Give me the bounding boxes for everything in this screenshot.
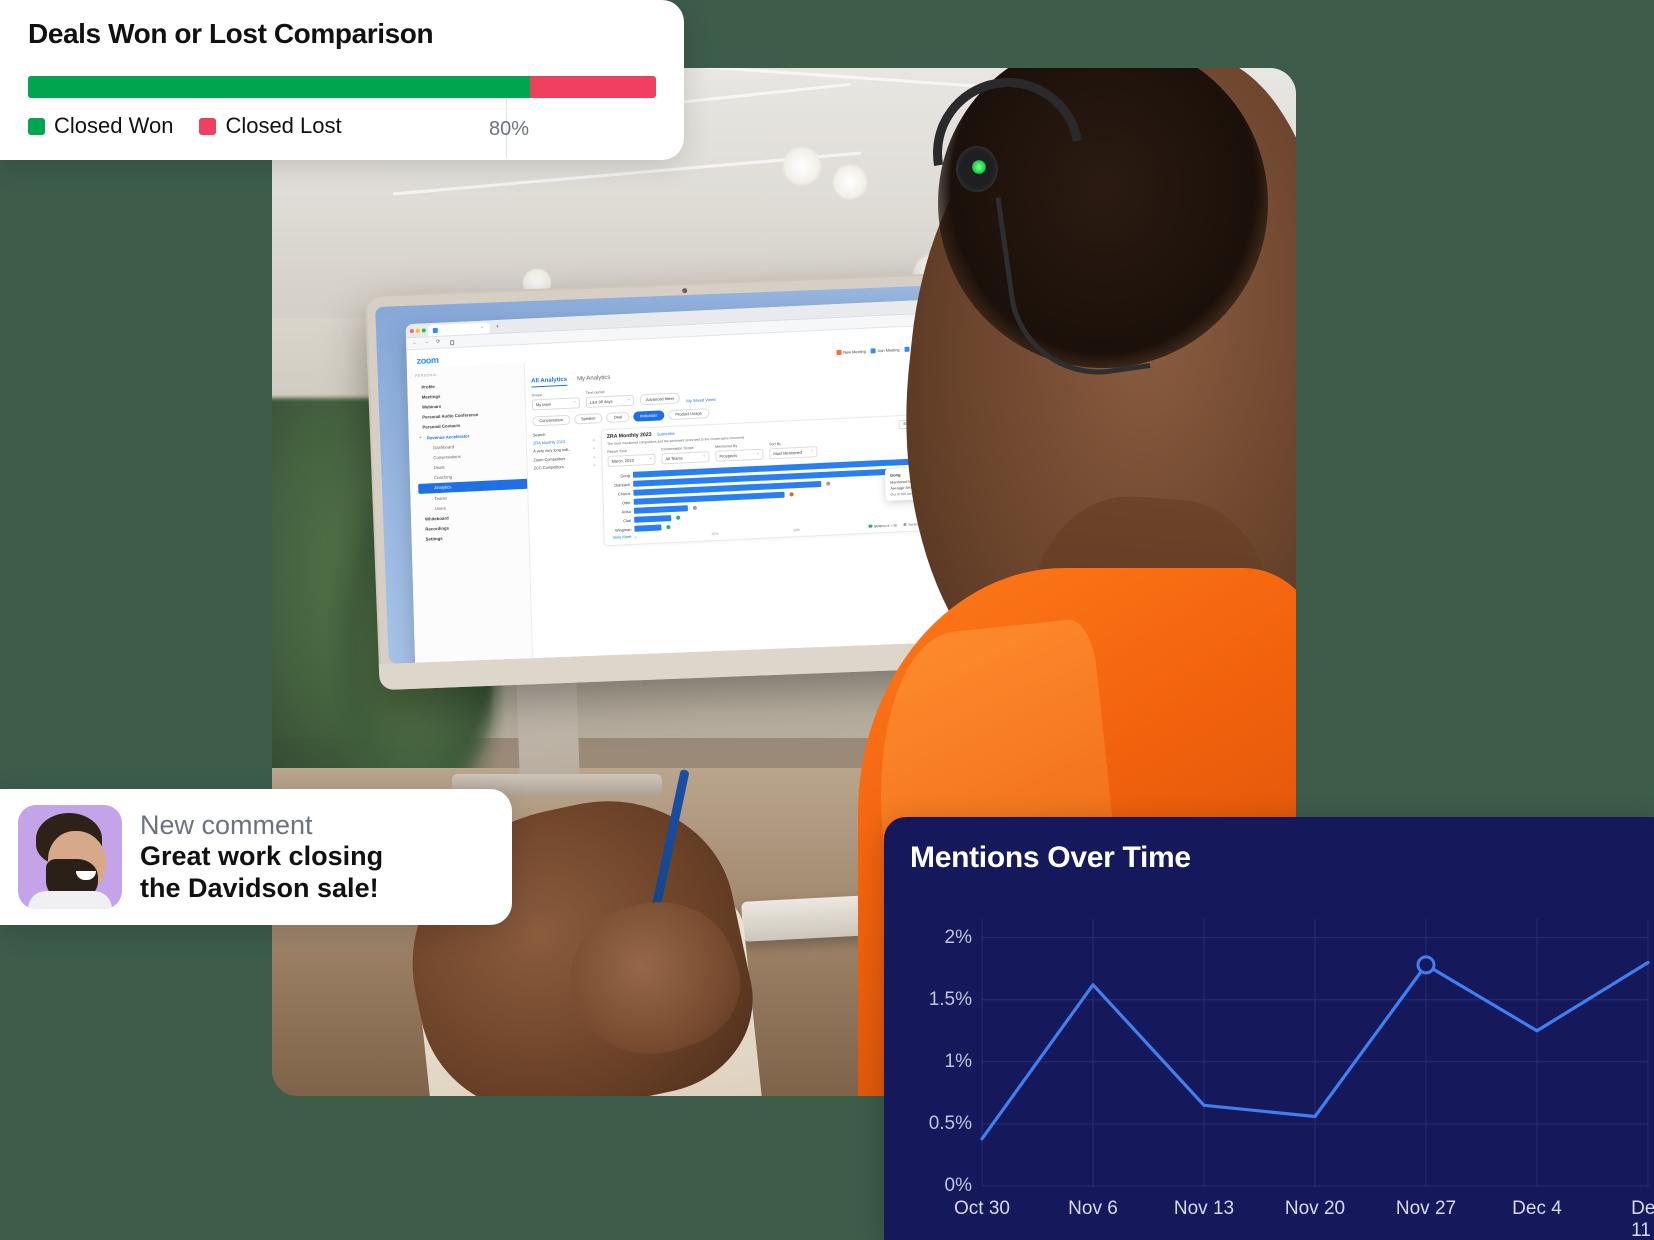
mentioned-by-control: Mentioned By Prospects xyxy=(715,443,763,462)
saved-views-link[interactable]: My Saved Views xyxy=(686,396,716,402)
sentiment-dot-negative xyxy=(789,492,793,496)
chip-label: ZCC Competitors xyxy=(534,464,564,470)
y-tick: 1.5% xyxy=(910,989,972,1011)
bar-label: Otter xyxy=(609,500,631,506)
screenshot-root: × + ← → ⟳ zoom PERSONAL Profil xyxy=(0,0,1654,1240)
pill-deal[interactable]: Deal xyxy=(607,411,630,423)
y-tick: 2% xyxy=(910,927,972,949)
ceiling-lamp xyxy=(782,146,822,186)
sentiment-dot-neutral xyxy=(692,506,696,510)
zoom-favicon xyxy=(433,328,438,333)
x-tick: Dec 4 xyxy=(1512,1198,1562,1220)
report-title: ZRA Monthly 2023 xyxy=(607,432,652,440)
new-comment-card[interactable]: New comment Great work closing the David… xyxy=(0,789,512,925)
x-tick: 0 xyxy=(635,535,637,539)
pill-indicators[interactable]: Indicators xyxy=(633,410,665,422)
search-chip-zcc-competitors[interactable]: ZCC Competitors × xyxy=(534,463,596,471)
mentions-over-time-card: Mentions Over Time 0%0.5%1%1.5%2%Oct 30N… xyxy=(884,817,1654,1240)
monitor-stand xyxy=(516,667,580,789)
comment-message-line2: the Davidson sale! xyxy=(140,873,383,904)
deals-legend: Closed Won Closed Lost xyxy=(28,113,656,139)
legend-swatch-won xyxy=(28,118,45,135)
subscribe-link[interactable]: Subscribe xyxy=(657,431,675,437)
x-tick: 20% xyxy=(793,528,800,532)
pill-speaker[interactable]: Speaker xyxy=(574,413,603,425)
scope-select[interactable]: My team xyxy=(532,397,580,410)
search-chip-zra-monthly[interactable]: ZRA Monthly 2023 × xyxy=(533,438,595,446)
search-chip-zoom-competitors[interactable]: Zoom Competitors × xyxy=(533,454,595,462)
legend-label-won: Closed Won xyxy=(54,113,173,139)
y-tick: 1% xyxy=(910,1051,972,1073)
scope-filter: Scope My team xyxy=(532,391,580,410)
bar-label: Outreach xyxy=(608,482,630,488)
sort-by-select[interactable]: Most Mentioned xyxy=(769,446,817,459)
close-tab-icon[interactable]: × xyxy=(481,325,483,330)
legend-item-closed-won: Closed Won xyxy=(28,113,173,139)
x-tick: 10% xyxy=(711,531,718,535)
bar-fill xyxy=(634,525,661,532)
bar-label: Aviso xyxy=(609,509,631,515)
bar-label: Gong xyxy=(608,473,630,479)
window-maximize-icon[interactable] xyxy=(422,328,426,332)
page-title: Deals Won or Lost Comparison xyxy=(28,18,656,50)
search-panel: Search ZRA Monthly 2023 × A very very lo… xyxy=(533,430,598,549)
bar-label: Clari xyxy=(609,518,631,524)
x-tick: Nov 27 xyxy=(1396,1198,1456,1220)
chip-label: A very very long indi... xyxy=(533,447,571,454)
chip-label: Zoom Competitors xyxy=(533,456,565,463)
close-icon[interactable]: × xyxy=(593,446,595,451)
x-tick: Nov 20 xyxy=(1285,1198,1345,1220)
close-icon[interactable]: × xyxy=(593,463,595,468)
conversation-scope-control: Conversation Scope All Teams xyxy=(661,445,709,464)
window-close-icon[interactable] xyxy=(410,329,414,333)
back-arrow-icon[interactable]: ← xyxy=(412,340,417,346)
x-tick: Oct 30 xyxy=(954,1198,1010,1220)
view-more-link[interactable]: View More xyxy=(613,534,632,540)
y-tick: 0% xyxy=(910,1175,972,1197)
sentiment-dot-positive xyxy=(676,515,680,519)
bar-fill xyxy=(634,505,688,513)
avatar-shoulders xyxy=(28,891,112,909)
comment-message-line1: Great work closing xyxy=(140,841,383,872)
avatar xyxy=(18,805,122,909)
bar-label: Wingman xyxy=(609,527,631,533)
zoom-logo: zoom xyxy=(417,355,439,366)
report-time-select[interactable]: March, 2023 xyxy=(607,453,655,466)
lock-icon xyxy=(450,340,454,345)
bar-fill xyxy=(634,515,671,522)
mentions-line-chart: 0%0.5%1%1.5%2%Oct 30Nov 6Nov 13Nov 20Nov… xyxy=(910,901,1654,1240)
sort-by-control: Sort By Most Mentioned xyxy=(769,440,817,459)
legend-swatch-lost xyxy=(199,118,216,135)
new-tab-icon[interactable]: + xyxy=(496,323,500,331)
tab-my-analytics[interactable]: My Analytics xyxy=(577,375,611,386)
x-tick: Nov 6 xyxy=(1068,1198,1118,1220)
report-time-control: Report Time March, 2023 xyxy=(607,448,655,467)
legend-label-lost: Closed Lost xyxy=(225,113,341,139)
x-tick: Nov 13 xyxy=(1174,1198,1234,1220)
time-period-filter: Time period Last 90 days xyxy=(586,389,634,408)
bar-label: Chorus xyxy=(608,491,630,497)
search-chip-long-indicator[interactable]: A very very long indi... × xyxy=(533,446,595,454)
tab-all-analytics[interactable]: All Analytics xyxy=(531,377,567,388)
pill-product-usage[interactable]: Product Usage xyxy=(668,408,709,420)
forward-arrow-icon[interactable]: → xyxy=(424,339,429,345)
pill-conversation[interactable]: Conversation xyxy=(532,414,570,426)
headset-led-icon xyxy=(972,160,986,174)
closed-won-segment xyxy=(28,76,530,98)
window-minimize-icon[interactable] xyxy=(416,329,420,333)
mentioned-by-select[interactable]: Prospects xyxy=(715,448,763,461)
chart-title: Mentions Over Time xyxy=(910,841,1654,875)
x-tick: Dec 11 xyxy=(1631,1198,1654,1240)
close-icon[interactable]: × xyxy=(593,438,595,443)
deals-comparison-card: Deals Won or Lost Comparison Closed Won … xyxy=(0,0,684,160)
reload-icon[interactable]: ⟳ xyxy=(436,339,440,345)
app-sidebar: PERSONAL Profile Meetings Webinars Perso… xyxy=(407,363,534,664)
search-label: Search xyxy=(533,430,595,438)
sentiment-dot-positive xyxy=(666,525,670,529)
close-icon[interactable]: × xyxy=(593,454,595,459)
comment-header: New comment xyxy=(140,810,383,841)
deals-progress-bar xyxy=(28,76,656,98)
legend-item-closed-lost: Closed Lost xyxy=(199,113,341,139)
conversation-scope-select[interactable]: All Teams xyxy=(661,451,709,464)
comment-text: New comment Great work closing the David… xyxy=(140,810,383,904)
y-tick: 0.5% xyxy=(910,1113,972,1135)
chip-label: ZRA Monthly 2023 xyxy=(533,439,565,446)
time-period-select[interactable]: Last 90 days xyxy=(586,394,634,407)
percent-label: 80% xyxy=(489,118,529,141)
advanced-filters-button[interactable]: Advanced filters xyxy=(640,392,681,405)
